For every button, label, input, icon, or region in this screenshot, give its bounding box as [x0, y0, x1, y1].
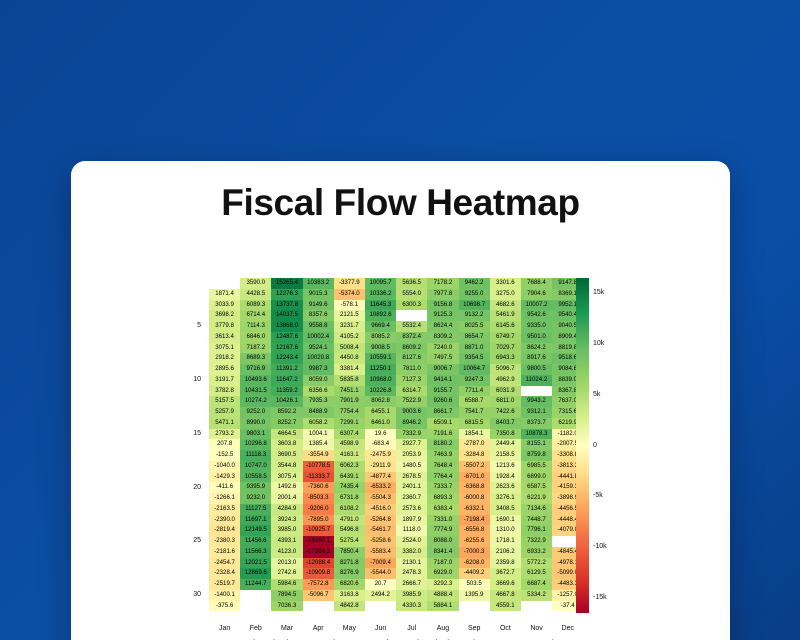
heatmap-cell: 7422.6	[490, 407, 521, 418]
heatmap-cell: 3779.8	[209, 321, 240, 332]
heatmap-cell: 9462.2	[459, 278, 490, 289]
heatmap-cell: -3554.9	[303, 450, 334, 461]
heatmap-cell: 9255.0	[459, 289, 490, 300]
heatmap-cell: -5264.8	[365, 515, 396, 526]
heatmap-cell: 9149.6	[303, 300, 334, 311]
heatmap-cell: 6455.1	[365, 407, 396, 418]
heatmap-row: 3613.46846.012487.610002.44105.28085.283…	[209, 332, 583, 343]
heatmap-cell: 207.8	[209, 439, 240, 450]
heatmap-cell: 3603.8	[271, 439, 302, 450]
heatmap-cell: 3301.6	[490, 278, 521, 289]
heatmap-cell: 1004.1	[303, 429, 334, 440]
heatmap-cell: 3075.4	[271, 472, 302, 483]
heatmap-cell: 8624.4	[427, 321, 458, 332]
heatmap-cell: 3276.1	[490, 493, 521, 504]
heatmap-cell: -578.1	[334, 300, 365, 311]
heatmap-cell: 4888.4	[427, 590, 458, 601]
heatmap-cell: 6893.3	[427, 493, 458, 504]
heatmap-cell: 6815.5	[459, 418, 490, 429]
heatmap-cell: 10095.7	[365, 278, 396, 289]
heatmap-cell: 2106.2	[490, 547, 521, 558]
heatmap-row: 2895.69716.911391.29987.33381.411250.178…	[209, 364, 583, 375]
heatmap-cell: 9125.3	[427, 310, 458, 321]
heatmap-row: -2380.311456.64393.1-18280.15275.4-5258.…	[209, 536, 583, 547]
heatmap-cell: 3782.8	[209, 386, 240, 397]
heatmap-cell: 10892.6	[365, 310, 396, 321]
heatmap-cell: 2623.6	[490, 482, 521, 493]
colorbar-tick: -10k	[593, 543, 607, 551]
heatmap-cell: -683.4	[365, 439, 396, 450]
heatmap-cell: 8357.6	[303, 310, 334, 321]
heatmap-row: 3191.710493.611647.28059.05835.810968.07…	[209, 375, 583, 386]
heatmap-cell: 11127.5	[240, 504, 271, 515]
heatmap-cell: 2918.2	[209, 353, 240, 364]
heatmap-cell: 7036.3	[271, 601, 302, 612]
heatmap-cell: 3590.0	[240, 278, 271, 289]
heatmap-row: -2454.712021.52013.0-12088.48271.8-7009.…	[209, 558, 583, 569]
heatmap-cell	[240, 601, 271, 612]
heatmap-cell: 5257.9	[209, 407, 240, 418]
heatmap-cell: 7463.9	[427, 450, 458, 461]
heatmap-cell: 10226.8	[365, 386, 396, 397]
heatmap-cell: -2519.7	[209, 579, 240, 590]
heatmap-cell	[521, 386, 552, 397]
heatmap-row: -411.69395.91492.6-7360.67435.4-6533.224…	[209, 482, 583, 493]
heatmap-cell: 2524.0	[396, 536, 427, 547]
heatmap-row: -2181.611566.34123.0-17366.37850.4-5583.…	[209, 547, 583, 558]
heatmap-cell: 7191.6	[427, 429, 458, 440]
heatmap-cell: 6929.0	[427, 568, 458, 579]
heatmap-cell: 9414.1	[427, 375, 458, 386]
heatmap-cell: 3191.7	[209, 375, 240, 386]
heatmap-row: -2163.511127.54284.9-9206.06108.2-4516.0…	[209, 504, 583, 515]
heatmap-cell: -8503.3	[303, 493, 334, 504]
heatmap-cell: 9395.9	[240, 482, 271, 493]
heatmap-cell: 7901.9	[334, 396, 365, 407]
heatmap-cell: -2380.3	[209, 536, 240, 547]
heatmap-cell: 9155.7	[427, 386, 458, 397]
x-axis-tick: Dec	[552, 625, 583, 632]
y-axis-tick: 10	[193, 376, 201, 384]
heatmap-cell: 5772.2	[521, 558, 552, 569]
x-axis-tick: Jun	[365, 625, 396, 632]
heatmap-cell: 7711.4	[459, 386, 490, 397]
heatmap-cell: 10296.8	[240, 439, 271, 450]
heatmap-cell: 8661.7	[427, 407, 458, 418]
heatmap-cell: 11566.3	[240, 547, 271, 558]
heatmap-cell: 1871.4	[209, 289, 240, 300]
heatmap-cell: 3690.5	[271, 450, 302, 461]
heatmap-row: -375.67036.34842.84330.35884.14559.1-37.…	[209, 601, 583, 612]
heatmap-cell: 9015.3	[303, 289, 334, 300]
heatmap-cell: 3292.3	[427, 579, 458, 590]
heatmap-cell: 8252.7	[271, 418, 302, 429]
heatmap-cell: 8654.7	[459, 332, 490, 343]
heatmap-cell: 10064.7	[459, 364, 490, 375]
heatmap-cell: 7187.0	[427, 558, 458, 569]
heatmap-cell: -18280.1	[303, 536, 334, 547]
heatmap-cell: -11333.7	[303, 472, 334, 483]
colorbar-tick: 0	[593, 442, 597, 450]
heatmap-cell: 4842.8	[334, 601, 365, 612]
heatmap-cell: 6058.2	[303, 418, 334, 429]
heatmap-cell: 2573.6	[396, 504, 427, 515]
heatmap-cell: 7240.0	[427, 343, 458, 354]
heatmap-cell: 7977.8	[427, 289, 458, 300]
heatmap-table: 3590.015265.410383.2-3377.910095.75636.5…	[209, 278, 583, 611]
heatmap-cell: 14037.5	[271, 310, 302, 321]
heatmap-cell: -5507.2	[459, 461, 490, 472]
heatmap-cell: 9335.0	[521, 321, 552, 332]
heatmap-cell: 8990.0	[240, 418, 271, 429]
heatmap-cell: 7451.1	[334, 386, 365, 397]
heatmap-cell: 3669.6	[490, 579, 521, 590]
heatmap-cell: 4667.8	[490, 590, 521, 601]
heatmap-cell: 5275.4	[334, 536, 365, 547]
heatmap-cell: 12167.6	[271, 343, 302, 354]
heatmap-cell: 10383.2	[303, 278, 334, 289]
heatmap-cell: 10431.5	[240, 386, 271, 397]
x-axis-tick: Jul	[396, 625, 427, 632]
heatmap-cell: 8155.1	[521, 439, 552, 450]
heatmap-cell: 11645.3	[365, 300, 396, 311]
heatmap-cell: 6846.0	[240, 332, 271, 343]
heatmap-cell: 6933.2	[521, 547, 552, 558]
heatmap-cell: 7178.2	[427, 278, 458, 289]
x-axis-tick: Mar	[271, 625, 302, 632]
heatmap-cell: -5461.7	[365, 525, 396, 536]
heatmap-cell: 3163.8	[334, 590, 365, 601]
heatmap-cell: 5461.9	[490, 310, 521, 321]
heatmap-cell: 7894.5	[271, 590, 302, 601]
heatmap-cell: 1385.4	[303, 439, 334, 450]
heatmap-cell: 7332.9	[396, 429, 427, 440]
heatmap-row: 3782.810431.511359.26356.67451.110226.86…	[209, 386, 583, 397]
heatmap-cell: 1310.0	[490, 525, 521, 536]
heatmap-cell: 6811.0	[490, 396, 521, 407]
heatmap-cell: 6749.7	[490, 332, 521, 343]
heatmap-cell: 2666.7	[396, 579, 427, 590]
heatmap-cell: 6587.5	[521, 482, 552, 493]
heatmap-cell: -5374.0	[334, 289, 365, 300]
heatmap-cell: 3381.4	[334, 364, 365, 375]
heatmap-cell	[209, 278, 240, 289]
heatmap-cell: 6089.3	[240, 300, 271, 311]
y-axis-tick: 30	[193, 591, 201, 599]
heatmap-cell: 6714.4	[240, 310, 271, 321]
heatmap-cell: -152.5	[209, 450, 240, 461]
heatmap-cell: 8372.4	[396, 332, 427, 343]
heatmap-row: 1871.44428.512276.39015.3-5374.010336.25…	[209, 289, 583, 300]
heatmap-cell: 8689.3	[240, 353, 271, 364]
heatmap-cell: 7134.6	[521, 504, 552, 515]
heatmap-cell: 8309.2	[427, 332, 458, 343]
y-axis-tick: 25	[193, 537, 201, 545]
heatmap-figure: 51015202530 3590.015265.410383.2-3377.91…	[71, 261, 730, 640]
heatmap-row: 5471.18990.08252.76058.27299.16461.08946…	[209, 418, 583, 429]
heatmap-cell: 9501.0	[521, 332, 552, 343]
heatmap-cell: 7796.1	[521, 525, 552, 536]
heatmap-cell: 4284.9	[271, 504, 302, 515]
heatmap-cell: 5835.8	[334, 375, 365, 386]
heatmap-cell: 2360.7	[396, 493, 427, 504]
heatmap-cell: -1400.1	[209, 590, 240, 601]
heatmap-cell: -375.6	[209, 601, 240, 612]
heatmap-cell: 7850.4	[334, 547, 365, 558]
heatmap-cell: 9354.5	[459, 353, 490, 364]
heatmap-cell: -4409.2	[459, 568, 490, 579]
heatmap-cell: 8271.8	[334, 558, 365, 569]
heatmap-cell: 2678.5	[396, 472, 427, 483]
heatmap-row: 3033.96089.313737.89149.6-578.111645.363…	[209, 300, 583, 311]
heatmap-cell: -1040.0	[209, 461, 240, 472]
heatmap-cell: 8624.2	[521, 343, 552, 354]
heatmap-cell: 2053.9	[396, 450, 427, 461]
heatmap-cell: 6221.9	[521, 493, 552, 504]
heatmap-row: 5157.510274.210426.17935.37901.98062.875…	[209, 396, 583, 407]
heatmap-cell: 10336.2	[365, 289, 396, 300]
heatmap-cell: 9232.0	[240, 493, 271, 504]
heatmap-cell: 8085.2	[365, 332, 396, 343]
colorbar-tick: -5k	[593, 492, 603, 500]
heatmap-cell: 8488.9	[303, 407, 334, 418]
heatmap-cell: 7754.4	[334, 407, 365, 418]
heatmap-cell: 3075.1	[209, 343, 240, 354]
heatmap-cell: 10274.2	[240, 396, 271, 407]
heatmap-cell: 9524.1	[303, 343, 334, 354]
heatmap-cell: 4682.6	[490, 300, 521, 311]
heatmap-cell: -10925.7	[303, 525, 334, 536]
heatmap-cell: -5544.0	[365, 568, 396, 579]
heatmap-cell: 11647.2	[271, 375, 302, 386]
heatmap-cell: 7187.2	[240, 343, 271, 354]
heatmap-cell: 4330.3	[396, 601, 427, 612]
heatmap-cell: 12243.4	[271, 353, 302, 364]
heatmap-cell: -4516.0	[365, 504, 396, 515]
heatmap-cell: 7648.4	[427, 461, 458, 472]
heatmap-cell: 6383.4	[427, 504, 458, 515]
heatmap-cell: -6368.8	[459, 482, 490, 493]
heatmap-row: 5257.99252.08592.28488.97754.46455.19003…	[209, 407, 583, 418]
heatmap-cell: 11024.2	[521, 375, 552, 386]
heatmap-row: -2390.011697.13924.3-7895.04791.0-5264.8…	[209, 515, 583, 526]
heatmap-cell: 7522.9	[396, 396, 427, 407]
heatmap-cell: 11391.2	[271, 364, 302, 375]
heatmap-cell: 4123.0	[271, 547, 302, 558]
heatmap-cell: 1395.9	[459, 590, 490, 601]
heatmap-cell: 11244.7	[240, 579, 271, 590]
heatmap-cell: 2895.6	[209, 364, 240, 375]
heatmap-cell: -6000.8	[459, 493, 490, 504]
heatmap-cell: 8946.2	[396, 418, 427, 429]
heatmap-cell: 9312.1	[521, 407, 552, 418]
heatmap-cell: 12276.3	[271, 289, 302, 300]
x-axis-tick: May	[334, 625, 365, 632]
colorbar	[576, 278, 589, 613]
heatmap-cell: 6356.6	[303, 386, 334, 397]
heatmap-cell: 5884.1	[427, 601, 458, 612]
heatmap-cell: -2819.4	[209, 525, 240, 536]
heatmap-cell: -2181.6	[209, 547, 240, 558]
app-root: Fiscal Flow Heatmap 51015202530 3590.015…	[0, 0, 800, 640]
heatmap-cell: 6943.3	[490, 353, 521, 364]
heatmap-cell: 8917.6	[521, 353, 552, 364]
heatmap-cell: 9132.2	[459, 310, 490, 321]
heatmap-cell: 4791.0	[334, 515, 365, 526]
heatmap-cell: 2158.5	[490, 450, 521, 461]
heatmap-cell: -12088.4	[303, 558, 334, 569]
heatmap-cell: 10968.0	[365, 375, 396, 386]
heatmap-cell: 6108.2	[334, 504, 365, 515]
heatmap-cell: 9156.8	[427, 300, 458, 311]
heatmap-cell: -6332.1	[459, 504, 490, 515]
heatmap-cell: 5496.8	[334, 525, 365, 536]
heatmap-cell: 2478.3	[396, 568, 427, 579]
heatmap-cell: 8403.7	[490, 418, 521, 429]
heatmap-cell: -10778.5	[303, 461, 334, 472]
heatmap-cell	[459, 601, 490, 612]
heatmap-cell: 11359.2	[271, 386, 302, 397]
heatmap-cell: 4598.9	[334, 439, 365, 450]
heatmap-cell: -2163.5	[209, 504, 240, 515]
heatmap-cell: 13868.0	[271, 321, 302, 332]
heatmap-cell: 9008.5	[365, 343, 396, 354]
heatmap-cell: 5554.0	[396, 289, 427, 300]
heatmap-cell: 12869.6	[240, 568, 271, 579]
heatmap-cell: 2449.4	[490, 439, 521, 450]
heatmap-cell: 7764.4	[427, 472, 458, 483]
heatmap-row: -2519.711244.75984.6-7572.86820.620.7266…	[209, 579, 583, 590]
heatmap-cell: 10698.7	[459, 300, 490, 311]
heatmap-cell: 4962.9	[490, 375, 521, 386]
heatmap-cell: 9716.9	[240, 364, 271, 375]
heatmap-cell: 9260.6	[427, 396, 458, 407]
heatmap-cell: 3672.7	[490, 568, 521, 579]
heatmap-cell: -7009.4	[365, 558, 396, 569]
x-axis-tick: Apr	[303, 625, 334, 632]
heatmap-cell: 8759.8	[521, 450, 552, 461]
heatmap-row: -2819.412149.53985.0-10925.75496.8-5461.…	[209, 525, 583, 536]
heatmap-cell: 7322.9	[521, 536, 552, 547]
heatmap-cell: 9542.6	[521, 310, 552, 321]
heatmap-cell: 3985.9	[396, 590, 427, 601]
heatmap-cell: 8609.2	[396, 343, 427, 354]
heatmap-cell: 7541.7	[459, 407, 490, 418]
heatmap-cell	[365, 601, 396, 612]
heatmap-cell: 5471.1	[209, 418, 240, 429]
heatmap-cell: 3544.8	[271, 461, 302, 472]
heatmap-cell: 7935.3	[303, 396, 334, 407]
heatmap-cell: -7360.6	[303, 482, 334, 493]
heatmap-cell: -2390.0	[209, 515, 240, 526]
heatmap-cell: 6687.4	[521, 579, 552, 590]
heatmap-cell: 7333.7	[427, 482, 458, 493]
heatmap-row: 3075.17187.212167.69524.15008.49008.5860…	[209, 343, 583, 354]
heatmap-cell: 9006.7	[427, 364, 458, 375]
heatmap-row: -152.511118.33690.5-3554.94163.1-2475.92…	[209, 450, 583, 461]
heatmap-cell: -411.6	[209, 482, 240, 493]
heatmap-cell: 11697.1	[240, 515, 271, 526]
heatmap-cell: -6556.8	[459, 525, 490, 536]
heatmap-cell: 3408.5	[490, 504, 521, 515]
heatmap-cell: 5008.4	[334, 343, 365, 354]
heatmap-cell: 2013.0	[271, 558, 302, 569]
heatmap-row: 3590.015265.410383.2-3377.910095.75636.5…	[209, 278, 583, 289]
heatmap-cell: 1213.6	[490, 461, 521, 472]
heatmap-cell: -6533.2	[365, 482, 396, 493]
heatmap-cell: 3924.3	[271, 515, 302, 526]
heatmap-cell: 10426.1	[271, 396, 302, 407]
heatmap-cell: 4105.2	[334, 332, 365, 343]
heatmap-cell: 8059.0	[303, 375, 334, 386]
heatmap-cell: 3698.2	[209, 310, 240, 321]
heatmap-cell: 6314.7	[396, 386, 427, 397]
heatmap-cell: 1928.4	[490, 472, 521, 483]
heatmap-row: -2328.412869.62742.6-10909.88276.9-5544.…	[209, 568, 583, 579]
heatmap-cell: 9003.6	[396, 407, 427, 418]
heatmap-cell	[240, 590, 271, 601]
x-axis-tick: Oct	[490, 625, 521, 632]
heatmap-cell: 3382.0	[396, 547, 427, 558]
heatmap-cell: 4393.1	[271, 536, 302, 547]
heatmap-cell: 7029.7	[490, 343, 521, 354]
heatmap-cell: 7904.6	[521, 289, 552, 300]
heatmap-row: 2793.29803.14664.51004.16307.419.67332.9…	[209, 429, 583, 440]
heatmap-cell: -10909.8	[303, 568, 334, 579]
heatmap-cell: 5096.7	[490, 364, 521, 375]
colorbar-tick: 10k	[593, 340, 604, 348]
heatmap-cell: 3033.9	[209, 300, 240, 311]
heatmap-cell: 1718.1	[490, 536, 521, 547]
heatmap-cell: 1492.6	[271, 482, 302, 493]
heatmap-cell: 6731.8	[334, 493, 365, 504]
heatmap-cell: 8062.8	[365, 396, 396, 407]
heatmap-cell: -6208.0	[459, 558, 490, 569]
heatmap-cell: 8341.4	[427, 547, 458, 558]
heatmap-cell: -6255.6	[459, 536, 490, 547]
heatmap-cell: 2121.5	[334, 310, 365, 321]
heatmap-row: 3779.87114.313868.09558.83231.79669.4553…	[209, 321, 583, 332]
heatmap-cell: 7774.9	[427, 525, 458, 536]
heatmap-cell: -2475.9	[365, 450, 396, 461]
heatmap-grid: 3590.015265.410383.2-3377.910095.75636.5…	[209, 278, 583, 611]
heatmap-row: 3698.26714.414037.58357.62121.510892.691…	[209, 310, 583, 321]
heatmap-cell: 12021.5	[240, 558, 271, 569]
heatmap-row: 2918.28689.312243.410020.84450.810559.18…	[209, 353, 583, 364]
heatmap-cell: 10747.0	[240, 461, 271, 472]
heatmap-cell: 4163.1	[334, 450, 365, 461]
heatmap-cell: 10002.4	[303, 332, 334, 343]
heatmap-cell: 10878.3	[521, 429, 552, 440]
heatmap-cell: 1480.5	[396, 461, 427, 472]
heatmap-cell: 8180.2	[427, 439, 458, 450]
heatmap-cell: 7448.7	[521, 515, 552, 526]
heatmap-cell: 19.6	[365, 429, 396, 440]
heatmap-cell: 7688.4	[521, 278, 552, 289]
heatmap-cell: 5334.2	[521, 590, 552, 601]
heatmap-cell: -2328.4	[209, 568, 240, 579]
heatmap-cell: 9987.3	[303, 364, 334, 375]
x-axis-tick: Sep	[459, 625, 490, 632]
heatmap-cell: 6300.3	[396, 300, 427, 311]
heatmap-cell: 10020.8	[303, 353, 334, 364]
heatmap-cell: -1429.3	[209, 472, 240, 483]
heatmap-cell: 3275.0	[490, 289, 521, 300]
heatmap-row: -1429.310558.53075.4-11333.76439.1-4877.…	[209, 472, 583, 483]
heatmap-cell: 7497.5	[427, 353, 458, 364]
heatmap-cell: 10559.1	[365, 353, 396, 364]
heatmap-cell: 6509.1	[427, 418, 458, 429]
